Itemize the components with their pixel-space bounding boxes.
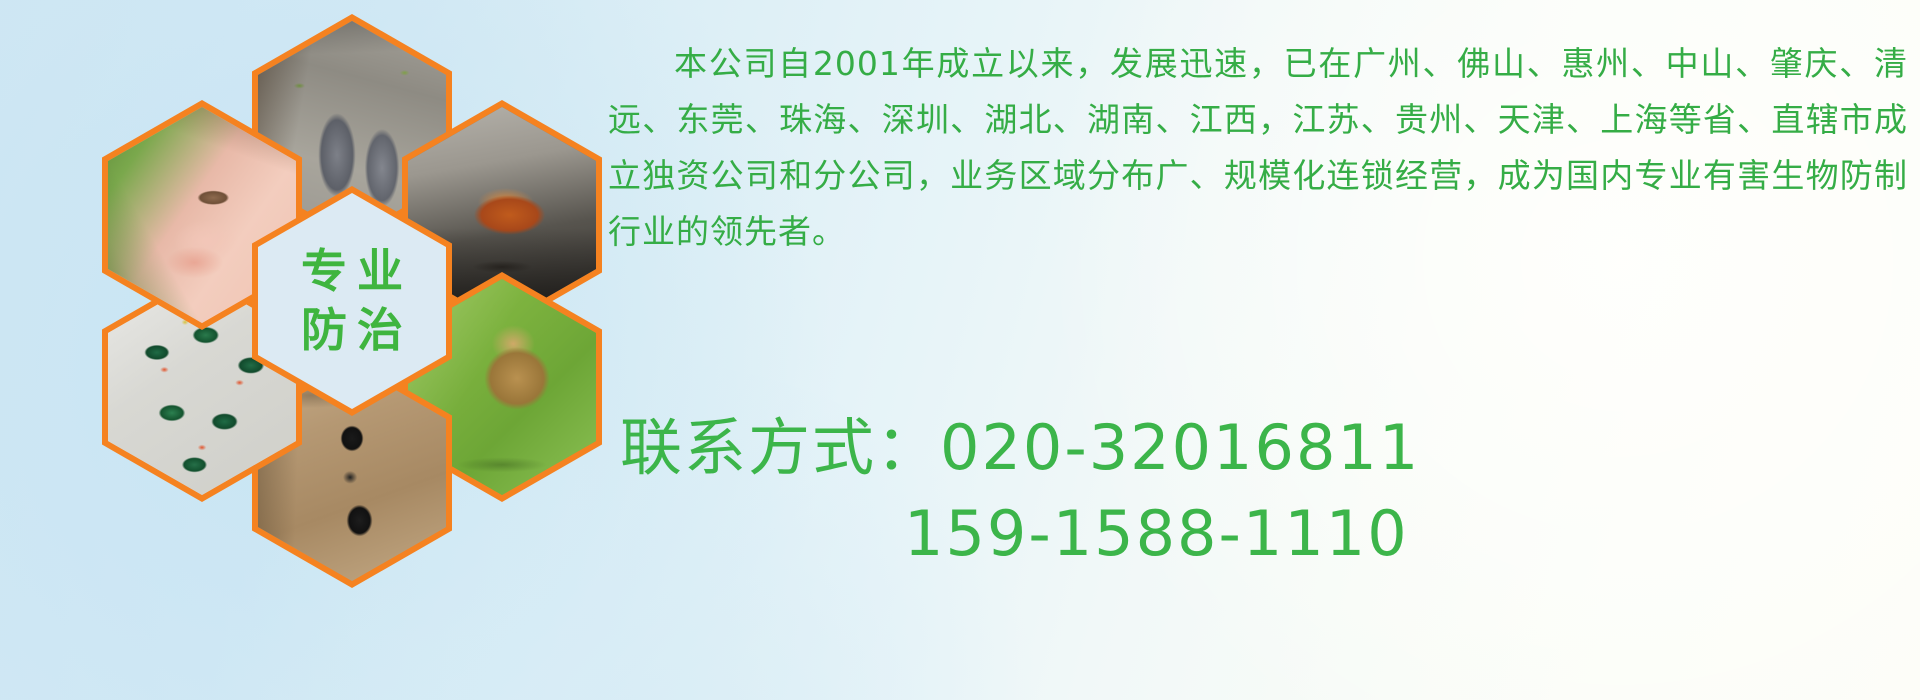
contact-line-secondary[interactable]: 159-1588-1110 bbox=[620, 491, 1910, 577]
contact-line-primary[interactable]: 联系方式：020-32016811 bbox=[620, 405, 1910, 491]
pest-control-banner: 专业 防治 本公司自2001年成立以来，发展迅速，已在广州、佛山、惠州、中山、肇… bbox=[0, 0, 1920, 700]
slogan-line-2: 防治 bbox=[291, 301, 413, 360]
contact-block: 联系方式：020-32016811 159-1588-1110 bbox=[620, 405, 1910, 577]
company-intro-paragraph: 本公司自2001年成立以来，发展迅速，已在广州、佛山、惠州、中山、肇庆、清远、东… bbox=[608, 36, 1908, 260]
company-intro-block: 本公司自2001年成立以来，发展迅速，已在广州、佛山、惠州、中山、肇庆、清远、东… bbox=[608, 36, 1908, 260]
honeycomb-collage: 专业 防治 bbox=[88, 0, 588, 570]
slogan-line-1: 专业 bbox=[291, 242, 413, 301]
